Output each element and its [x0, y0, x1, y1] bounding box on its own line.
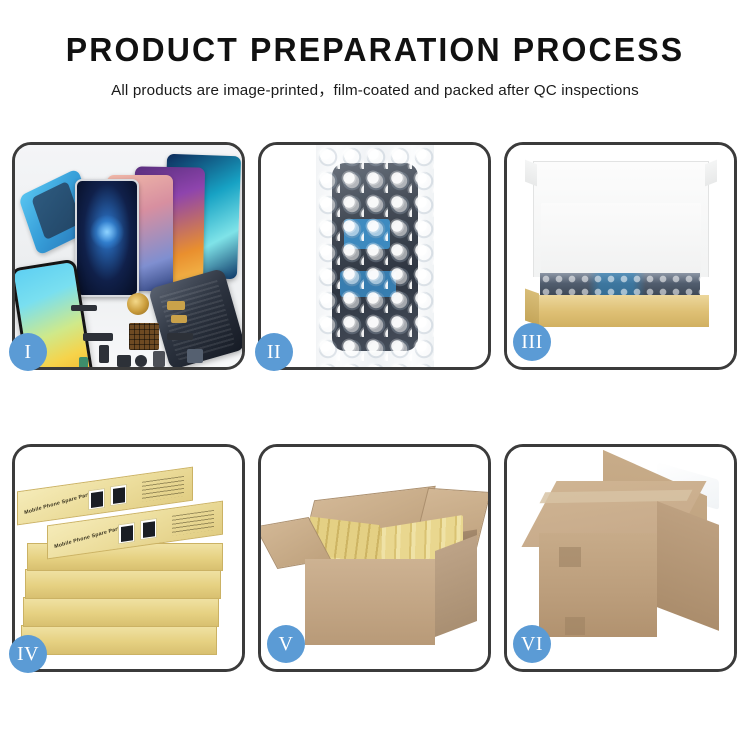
part-icon	[167, 333, 193, 340]
screen-thumbnail	[140, 518, 157, 540]
part-icon	[167, 301, 185, 310]
screen-thumbnail	[118, 522, 135, 544]
box-front-panel-icon	[533, 295, 709, 327]
screen-thumbnail	[110, 484, 127, 506]
product-preparation-infographic: PRODUCT PREPARATION PROCESS All products…	[0, 0, 750, 750]
carton-front-panel-icon	[539, 533, 657, 637]
retail-box	[25, 569, 221, 599]
step-4-illustration: Mobile Phone Spare Parts Mobile Phone Sp…	[15, 447, 242, 669]
part-icon	[171, 315, 187, 323]
spec-lines	[142, 476, 184, 502]
carton-flap-tab-icon	[565, 617, 585, 635]
step-badge-4: IV	[9, 635, 47, 673]
part-icon	[117, 355, 131, 367]
page-subtitle: All products are image-printed，film-coat…	[0, 78, 750, 100]
page-title: PRODUCT PREPARATION PROCESS	[11, 33, 739, 68]
part-icon	[79, 357, 88, 367]
step-panel-6: VI	[504, 444, 737, 672]
box-side-panel-icon	[525, 288, 539, 325]
header: PRODUCT PREPARATION PROCESS All products…	[0, 0, 750, 100]
carton-flap-tab-icon	[559, 547, 581, 567]
step-badge-6: VI	[513, 625, 551, 663]
box-stack-icon: Mobile Phone Spare Parts Mobile Phone Sp…	[17, 461, 242, 669]
part-icon	[71, 305, 97, 311]
chip-grid-icon	[129, 323, 159, 350]
part-icon	[153, 351, 165, 367]
step-panel-1: I	[12, 142, 245, 370]
step-badge-5: V	[267, 625, 305, 663]
step-panel-2: II	[258, 142, 491, 370]
step-panel-5: V	[258, 444, 491, 672]
step-1-illustration	[15, 145, 242, 367]
bubble-highlight-icon	[316, 145, 434, 367]
screen-thumbnail	[88, 488, 105, 510]
foam-liner-icon	[541, 203, 701, 279]
spec-lines	[172, 510, 214, 536]
carton-side-panel-icon	[435, 535, 477, 637]
step-badge-1: I	[9, 333, 47, 371]
retail-box	[23, 597, 219, 627]
box-label-text: Mobile Phone Spare Parts	[54, 525, 123, 550]
step-badge-3: III	[513, 323, 551, 361]
part-icon	[83, 333, 113, 341]
box-label-text: Mobile Phone Spare Parts	[24, 491, 93, 516]
carton-side-panel-icon	[657, 501, 719, 631]
retail-box	[21, 625, 217, 655]
step-panel-3: III	[504, 142, 737, 370]
part-icon	[99, 345, 109, 363]
part-icon	[187, 349, 203, 363]
process-steps-grid: I II III	[12, 142, 738, 678]
carton-front-panel-icon	[305, 559, 435, 645]
speaker-coil-icon	[127, 293, 149, 315]
phone-screen-icon	[75, 179, 139, 297]
step-panel-4: Mobile Phone Spare Parts Mobile Phone Sp…	[12, 444, 245, 672]
part-icon	[135, 355, 147, 367]
step-badge-2: II	[255, 333, 293, 371]
step-2-illustration	[261, 145, 488, 367]
spare-parts-cluster-icon	[71, 293, 221, 367]
